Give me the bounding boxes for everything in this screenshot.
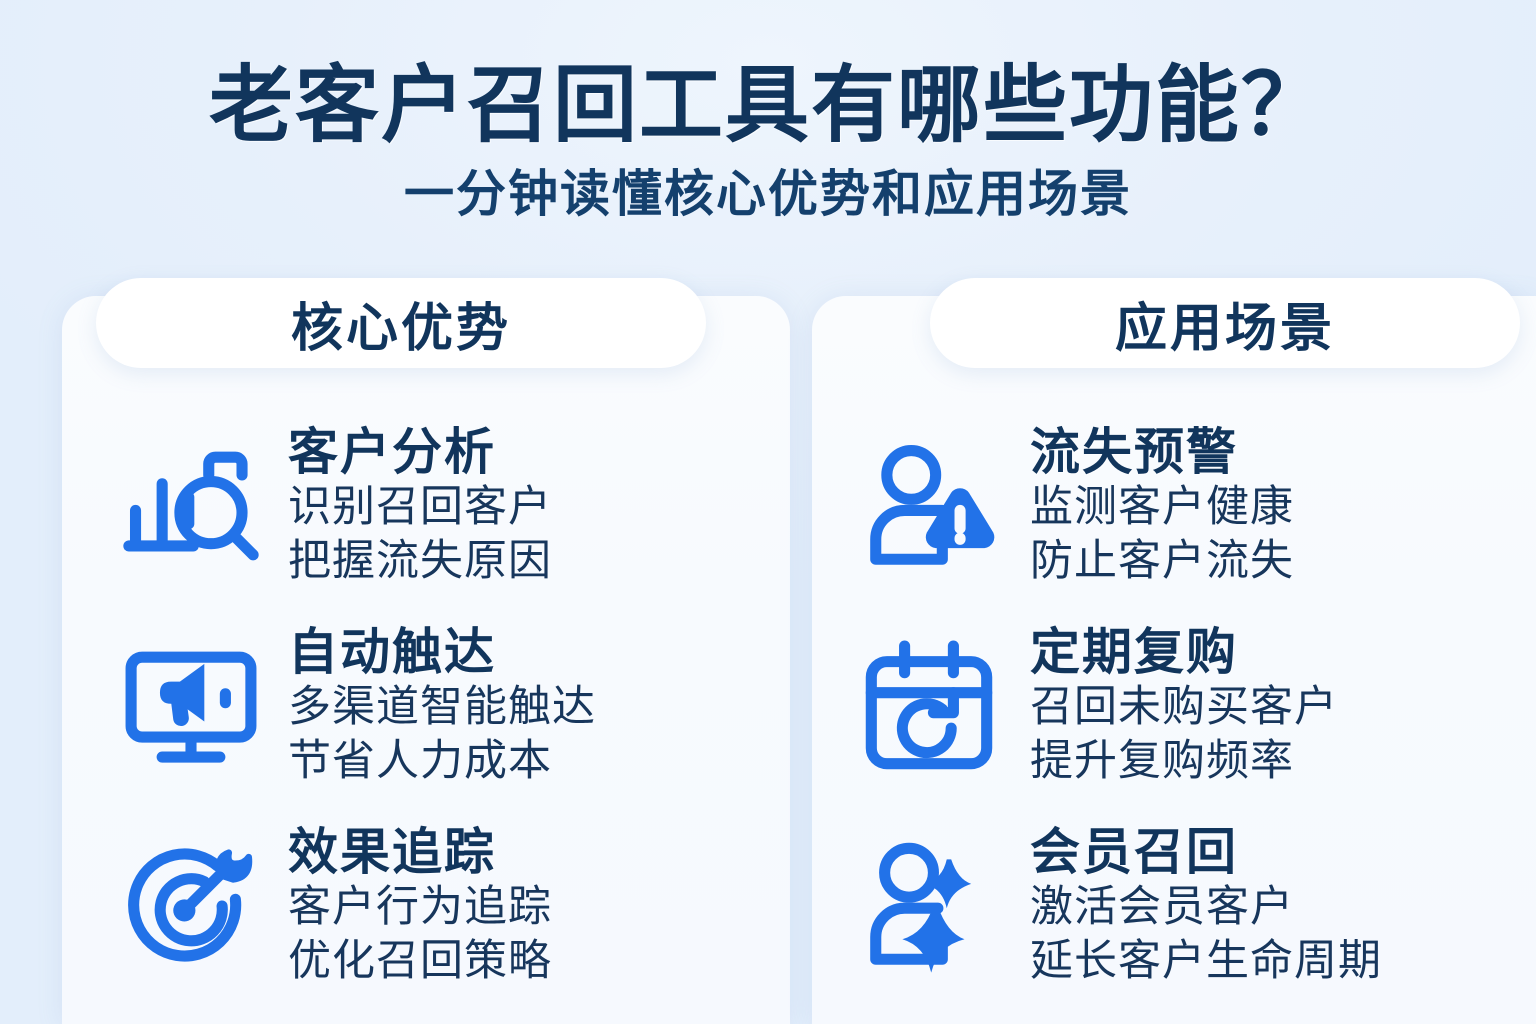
page-title: 老客户召回工具有哪些功能？ [0, 58, 1536, 152]
feature-list-left: 客户分析 识别召回客户 把握流失原因 [62, 406, 790, 1006]
panel-heading-pill-right: 应用场景 [930, 278, 1520, 368]
feature-text: 流失预警 监测客户健康 防止客户流失 [1004, 424, 1294, 588]
feature-item-customer-analysis[interactable]: 客户分析 识别召回客户 把握流失原因 [62, 406, 790, 606]
feature-line: 提升复购频率 [1030, 734, 1338, 788]
feature-line: 召回未购买客户 [1030, 680, 1338, 734]
feature-line: 识别召回客户 [288, 480, 552, 534]
feature-line: 延长客户生命周期 [1030, 934, 1382, 988]
feature-title: 效果追踪 [288, 824, 552, 880]
feature-item-auto-reach[interactable]: 自动触达 多渠道智能触达 节省人力成本 [62, 606, 790, 806]
header: 老客户召回工具有哪些功能？ 一分钟读懂核心优势和应用场景 [0, 0, 1536, 224]
feature-text: 会员召回 激活会员客户 延长客户生命周期 [1004, 824, 1382, 988]
calendar-repeat-icon [854, 631, 1004, 781]
feature-line: 防止客户流失 [1030, 534, 1294, 588]
feature-title: 自动触达 [288, 624, 596, 680]
feature-line: 客户行为追踪 [288, 880, 552, 934]
feature-line: 把握流失原因 [288, 534, 552, 588]
feature-text: 定期复购 召回未购买客户 提升复购频率 [1004, 624, 1338, 788]
feature-text: 客户分析 识别召回客户 把握流失原因 [266, 424, 552, 588]
feature-line: 激活会员客户 [1030, 880, 1382, 934]
panel-core-advantages: 核心优势 客户分析 识别召回客户 [62, 296, 790, 1024]
page-subtitle: 一分钟读懂核心优势和应用场景 [0, 166, 1536, 224]
target-arrow-icon [116, 831, 266, 981]
user-sparkle-icon [854, 831, 1004, 981]
panel-heading-label: 应用场景 [1115, 286, 1335, 361]
panel-heading-label: 核心优势 [291, 286, 511, 361]
user-warning-icon [854, 431, 1004, 581]
feature-title: 客户分析 [288, 424, 552, 480]
feature-item-member-recall[interactable]: 会员召回 激活会员客户 延长客户生命周期 [812, 806, 1536, 1006]
feature-line: 节省人力成本 [288, 734, 596, 788]
feature-item-churn-warning[interactable]: 流失预警 监测客户健康 防止客户流失 [812, 406, 1536, 606]
panels-container: 核心优势 客户分析 识别召回客户 [0, 296, 1536, 1024]
feature-title: 定期复购 [1030, 624, 1338, 680]
chart-search-icon [116, 431, 266, 581]
feature-title: 会员召回 [1030, 824, 1382, 880]
feature-list-right: 流失预警 监测客户健康 防止客户流失 [812, 406, 1536, 1006]
panel-application-scenarios: 应用场景 流失预警 监测客户健康 防止客户流失 [812, 296, 1536, 1024]
feature-title: 流失预警 [1030, 424, 1294, 480]
feature-line: 优化召回策略 [288, 934, 552, 988]
feature-item-effect-tracking[interactable]: 效果追踪 客户行为追踪 优化召回策略 [62, 806, 790, 1006]
feature-text: 效果追踪 客户行为追踪 优化召回策略 [266, 824, 552, 988]
feature-line: 多渠道智能触达 [288, 680, 596, 734]
feature-text: 自动触达 多渠道智能触达 节省人力成本 [266, 624, 596, 788]
feature-line: 监测客户健康 [1030, 480, 1294, 534]
panel-heading-pill-left: 核心优势 [96, 278, 706, 368]
monitor-megaphone-icon [116, 631, 266, 781]
feature-item-repeat-purchase[interactable]: 定期复购 召回未购买客户 提升复购频率 [812, 606, 1536, 806]
